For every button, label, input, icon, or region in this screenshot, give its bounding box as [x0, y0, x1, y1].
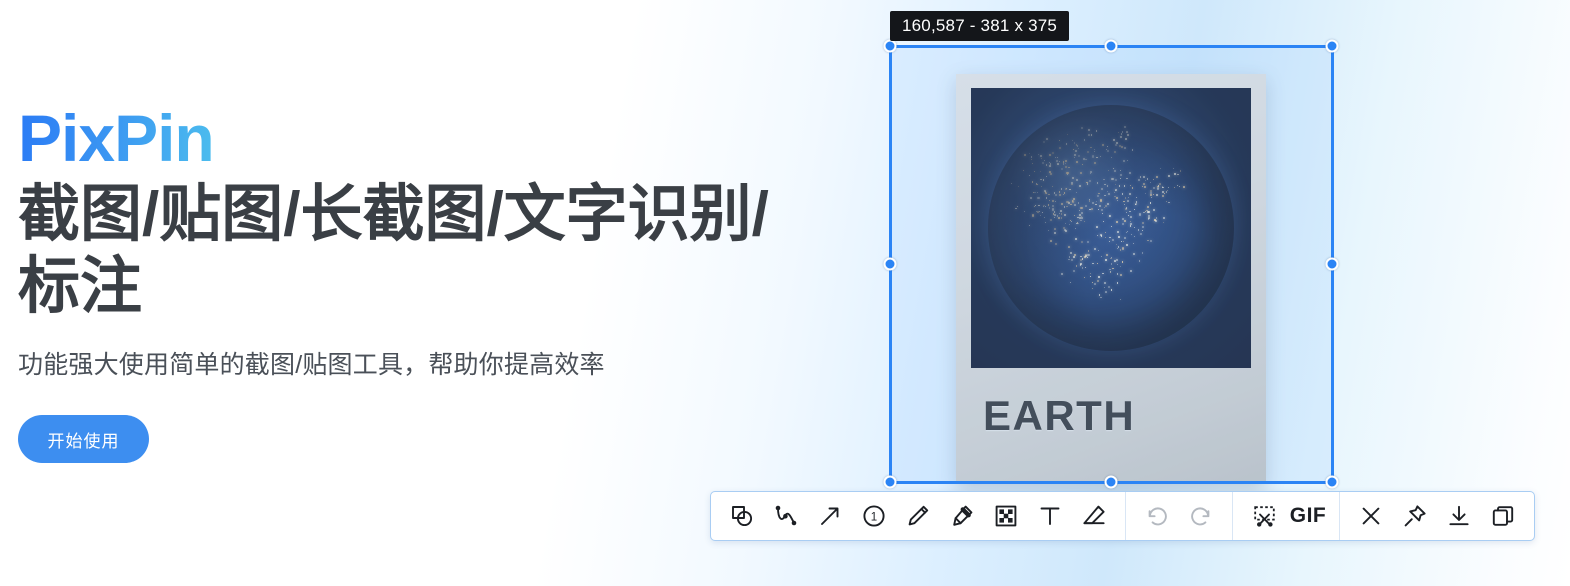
marker-tool[interactable]	[940, 494, 984, 538]
copy-button[interactable]	[1481, 494, 1525, 538]
close-x-icon	[1358, 503, 1384, 529]
svg-text:1: 1	[871, 512, 877, 524]
handle-middle-left[interactable]	[884, 258, 897, 271]
download-button[interactable]	[1437, 494, 1481, 538]
page-title: 截图/贴图/长截图/文字识别/标注	[18, 179, 778, 323]
arrow-tool[interactable]	[808, 494, 852, 538]
poster-frame: EARTH	[956, 74, 1266, 484]
eraser-tool[interactable]	[1072, 494, 1116, 538]
handle-middle-right[interactable]	[1326, 258, 1339, 271]
undo-button	[1135, 494, 1179, 538]
toolbar-group-action-tools	[1339, 492, 1534, 540]
mosaic-icon	[993, 503, 1019, 529]
handle-bottom-left[interactable]	[884, 476, 897, 489]
copy-icon	[1490, 503, 1516, 529]
arrow-icon	[817, 503, 843, 529]
brand-logo-text: PixPin	[18, 104, 214, 173]
toolbar-group-annotation-tools: 1	[711, 492, 1125, 540]
start-using-button[interactable]: 开始使用	[18, 415, 149, 463]
page-subtitle: 功能强大使用简单的截图/贴图工具，帮助你提高效率	[18, 345, 818, 381]
gif-icon: GIF	[1290, 504, 1327, 528]
text-t-icon	[1037, 503, 1063, 529]
gif-button[interactable]: GIF	[1286, 494, 1330, 538]
pixpin-landing-screenshot: PixPin 截图/贴图/长截图/文字识别/标注 功能强大使用简单的截图/贴图工…	[0, 0, 1570, 586]
pencil-tool[interactable]	[896, 494, 940, 538]
shape-tool[interactable]	[720, 494, 764, 538]
captured-artwork: EARTH	[956, 74, 1266, 484]
polyline-icon	[773, 503, 799, 529]
shapes-icon	[729, 503, 755, 529]
globe-sphere	[988, 105, 1234, 351]
selection-edge-right	[1331, 46, 1334, 482]
redo-icon	[1188, 503, 1214, 529]
capture-toolbar[interactable]: 1GIF	[710, 491, 1535, 541]
handle-top-left[interactable]	[884, 40, 897, 53]
redo-button	[1179, 494, 1223, 538]
number-tool[interactable]: 1	[852, 494, 896, 538]
selection-edge-left	[889, 46, 892, 482]
globe-shadow	[988, 105, 1234, 351]
close-button[interactable]	[1349, 494, 1393, 538]
pin-icon	[1402, 503, 1428, 529]
pencil-icon	[905, 503, 931, 529]
hero-section: PixPin 截图/贴图/长截图/文字识别/标注 功能强大使用简单的截图/贴图工…	[18, 104, 818, 463]
undo-icon	[1144, 503, 1170, 529]
poster-title: EARTH	[983, 392, 1135, 440]
scissors-crop-icon	[1251, 503, 1278, 530]
eraser-icon	[1081, 503, 1107, 529]
handle-bottom-right[interactable]	[1326, 476, 1339, 489]
handle-top-center[interactable]	[1105, 40, 1118, 53]
toolbar-group-history-tools	[1125, 492, 1232, 540]
toolbar-group-capture-tools: GIF	[1232, 492, 1339, 540]
pin-button[interactable]	[1393, 494, 1437, 538]
download-icon	[1446, 503, 1472, 529]
crop-button[interactable]	[1242, 494, 1286, 538]
earth-photo	[971, 88, 1251, 368]
text-tool[interactable]	[1028, 494, 1072, 538]
polyline-tool[interactable]	[764, 494, 808, 538]
mosaic-tool[interactable]	[984, 494, 1028, 538]
handle-top-right[interactable]	[1326, 40, 1339, 53]
number-circle-icon: 1	[861, 503, 887, 529]
selection-edge-top	[890, 45, 1332, 48]
selection-size-badge: 160,587 - 381 x 375	[890, 11, 1069, 41]
marker-icon	[949, 503, 975, 529]
